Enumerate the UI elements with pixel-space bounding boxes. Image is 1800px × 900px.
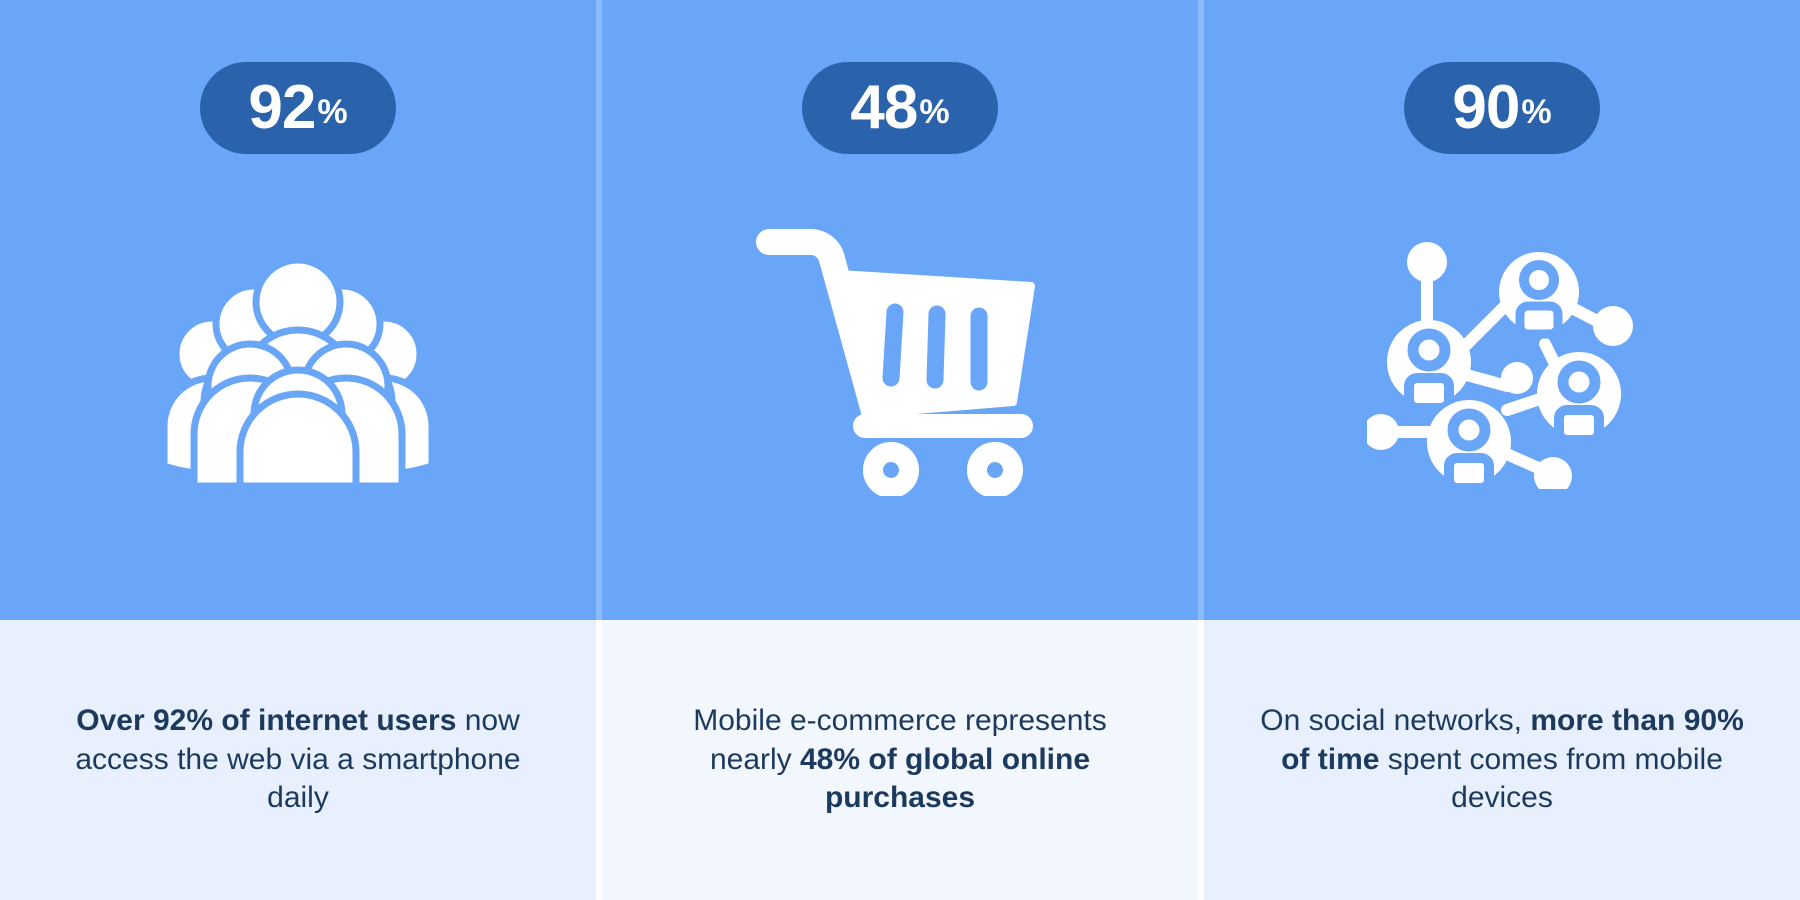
stat-panel-1: 92 % [0, 0, 596, 900]
social-network-icon [1204, 154, 1800, 620]
stat-panel-1-visual: 92 % [0, 0, 596, 620]
stat-badge-2: 48 % [802, 62, 998, 154]
stat-caption-2: Mobile e-commerce represents nearly 48% … [656, 702, 1144, 817]
stat-number-2: 48 [850, 77, 917, 139]
stat-badge-1: 92 % [200, 62, 396, 154]
stat-panel-2: 48 % [602, 0, 1198, 900]
shopping-cart-icon [602, 154, 1198, 620]
stat-panel-3: 90 % [1204, 0, 1800, 900]
stat-panel-1-caption-area: Over 92% of internet users now access th… [0, 620, 596, 900]
mobile-stats-infographic: 92 % [0, 0, 1800, 900]
people-group-icon [0, 154, 596, 620]
stat-panel-3-visual: 90 % [1204, 0, 1800, 620]
stat-panel-2-caption-area: Mobile e-commerce represents nearly 48% … [602, 620, 1198, 900]
stat-badge-3: 90 % [1404, 62, 1600, 154]
stat-caption-3: On social networks, more than 90% of tim… [1258, 702, 1746, 817]
stat-number-1: 92 [248, 77, 315, 139]
stat-percent-symbol-2: % [919, 95, 949, 129]
stat-percent-symbol-3: % [1521, 95, 1551, 129]
stat-panel-2-visual: 48 % [602, 0, 1198, 620]
stat-caption-1: Over 92% of internet users now access th… [54, 702, 542, 817]
stat-panel-3-caption-area: On social networks, more than 90% of tim… [1204, 620, 1800, 900]
stat-percent-symbol-1: % [317, 95, 347, 129]
stat-number-3: 90 [1452, 77, 1519, 139]
